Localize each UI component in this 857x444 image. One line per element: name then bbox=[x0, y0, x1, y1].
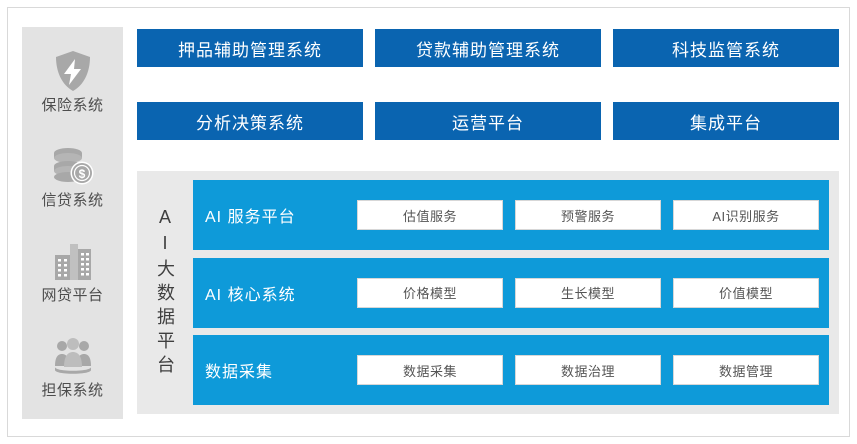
sidebar-item-label: 网贷平台 bbox=[41, 288, 103, 303]
platform-box-valuation-service[interactable]: 估值服务 bbox=[357, 200, 503, 230]
sidebar-item-label: 担保系统 bbox=[41, 383, 103, 398]
platform-box-data-management[interactable]: 数据管理 bbox=[673, 355, 819, 385]
platform-row-title: AI 核心系统 bbox=[205, 281, 357, 305]
sidebar-item-credit[interactable]: $ 信贷系统 bbox=[22, 130, 123, 222]
architecture-diagram-frame: 保险系统 $ 信贷系统 bbox=[7, 7, 850, 437]
platform-box-growth-model[interactable]: 生长模型 bbox=[515, 278, 661, 308]
platform-box-data-governance[interactable]: 数据治理 bbox=[515, 355, 661, 385]
platform-rows: AI 服务平台 估值服务 预警服务 AI识别服务 AI 核心系统 价格模型 生长… bbox=[193, 180, 829, 405]
platform-row-title: AI 服务平台 bbox=[205, 203, 357, 227]
shield-bolt-icon bbox=[51, 49, 95, 93]
platform-box-data-collection[interactable]: 数据采集 bbox=[357, 355, 503, 385]
system-button-loan-aux-management[interactable]: 贷款辅助管理系统 bbox=[375, 29, 601, 67]
system-button-analysis-decision[interactable]: 分析决策系统 bbox=[137, 102, 363, 140]
platform-row-boxes: 数据采集 数据治理 数据管理 bbox=[357, 355, 819, 385]
platform-row-boxes: 估值服务 预警服务 AI识别服务 bbox=[357, 200, 819, 230]
platform-row-ai-core[interactable]: AI 核心系统 价格模型 生长模型 价值模型 bbox=[193, 258, 829, 328]
system-button-integration-platform[interactable]: 集成平台 bbox=[613, 102, 839, 140]
top-systems-row-2: 分析决策系统 运营平台 集成平台 bbox=[137, 102, 839, 140]
sidebar-item-label: 保险系统 bbox=[41, 98, 103, 113]
platform-box-value-model[interactable]: 价值模型 bbox=[673, 278, 819, 308]
platform-row-boxes: 价格模型 生长模型 价值模型 bbox=[357, 278, 819, 308]
coins-dollar-icon: $ bbox=[51, 144, 95, 188]
sidebar-item-label: 信贷系统 bbox=[41, 193, 103, 208]
ai-bigdata-platform-panel: AI大数据平台 AI 服务平台 估值服务 预警服务 AI识别服务 AI 核心系统… bbox=[137, 171, 839, 414]
sidebar-item-online-lending[interactable]: 网贷平台 bbox=[22, 225, 123, 317]
platform-box-price-model[interactable]: 价格模型 bbox=[357, 278, 503, 308]
platform-vertical-label: AI大数据平台 bbox=[137, 180, 193, 405]
svg-text:$: $ bbox=[78, 167, 85, 181]
sidebar: 保险系统 $ 信贷系统 bbox=[22, 27, 123, 419]
platform-box-ai-recognition-service[interactable]: AI识别服务 bbox=[673, 200, 819, 230]
platform-row-title: 数据采集 bbox=[205, 358, 357, 382]
top-systems-row-1: 押品辅助管理系统 贷款辅助管理系统 科技监管系统 bbox=[137, 29, 839, 67]
people-group-icon bbox=[51, 334, 95, 378]
platform-box-alert-service[interactable]: 预警服务 bbox=[515, 200, 661, 230]
sidebar-item-guarantee[interactable]: 担保系统 bbox=[22, 320, 123, 412]
platform-row-data-collection[interactable]: 数据采集 数据采集 数据治理 数据管理 bbox=[193, 335, 829, 405]
system-button-tech-supervision[interactable]: 科技监管系统 bbox=[613, 29, 839, 67]
system-button-collateral-aux-management[interactable]: 押品辅助管理系统 bbox=[137, 29, 363, 67]
buildings-icon bbox=[51, 239, 95, 283]
sidebar-item-insurance[interactable]: 保险系统 bbox=[22, 35, 123, 127]
system-button-operations-platform[interactable]: 运营平台 bbox=[375, 102, 601, 140]
platform-row-ai-service[interactable]: AI 服务平台 估值服务 预警服务 AI识别服务 bbox=[193, 180, 829, 250]
